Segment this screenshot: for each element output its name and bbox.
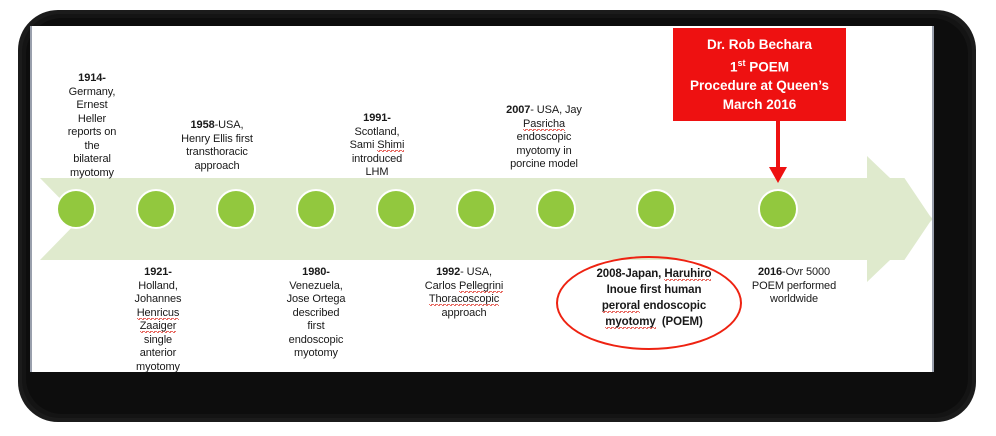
milestone-label-1914-heller: 1914- Germany,ErnestHellerreports ontheb… <box>44 72 140 180</box>
milestone-dot-1958-ellis[interactable] <box>216 189 256 229</box>
slide-screenshot: 1914- Germany,ErnestHellerreports ontheb… <box>0 0 996 436</box>
milestone-text-1921: Holland,JohannesHenricusZaaigersingleant… <box>135 280 182 373</box>
milestone-label-2007-pasricha: 2007- USA, JayPasrichaendoscopicmyotomy … <box>484 104 604 172</box>
callout-box-rob-bechara: Dr. Rob Bechara 1st POEM Procedure at Qu… <box>673 28 846 121</box>
milestone-label-1991-shimi: 1991- Scotland,Sami ShimiintroducedLHM <box>324 112 430 180</box>
callout-line-3: Procedure at Queen’s <box>690 78 829 93</box>
milestone-dot-1992-pellegrini[interactable] <box>456 189 496 229</box>
highlight-ellipse-2008-poem <box>556 256 742 350</box>
milestone-dot-1991-shimi[interactable] <box>376 189 416 229</box>
milestone-year-1921: 1921- <box>144 266 172 278</box>
milestone-text-1991: Scotland,Sami ShimiintroducedLHM <box>350 126 405 179</box>
timeline-arrow-head <box>867 156 932 282</box>
milestone-label-1921-zaaiger: 1921- Holland,JohannesHenricusZaaigersin… <box>108 266 208 372</box>
milestone-year-2007: 2007 <box>506 104 530 116</box>
spellcheck-thoracoscopic: Thoracoscopic <box>429 293 499 306</box>
milestone-dot-2016-worldwide[interactable] <box>758 189 798 229</box>
spellcheck-pasricha: Pasricha <box>523 118 565 131</box>
milestone-dot-1921-zaaiger[interactable] <box>136 189 176 229</box>
callout-line-1: Dr. Rob Bechara <box>707 37 812 52</box>
milestone-label-1992-pellegrini: 1992- USA,Carlos PellegriniThoracoscopic… <box>400 266 528 320</box>
callout-arrow-stem <box>776 121 780 173</box>
milestone-text-1914: Germany,ErnestHellerreports onthebilater… <box>68 86 117 179</box>
spellcheck-henricus: Henricus <box>137 307 180 320</box>
callout-line-4: March 2016 <box>723 97 797 112</box>
milestone-year-2016: 2016 <box>758 266 782 278</box>
milestone-label-1958-ellis: 1958-USA,Henry Ellis firsttransthoracica… <box>156 119 278 173</box>
milestone-dot-1980-ortega[interactable] <box>296 189 336 229</box>
spellcheck-pellegrini: Pellegrini <box>459 280 503 293</box>
milestone-year-1980: 1980- <box>302 266 330 278</box>
callout-text: Dr. Rob Bechara 1st POEM Procedure at Qu… <box>690 35 829 115</box>
milestone-dot-2007-pasricha[interactable] <box>536 189 576 229</box>
milestone-label-1980-ortega: 1980- Venezuela,Jose Ortegadescribedfirs… <box>264 266 368 361</box>
slide-right-edge <box>932 26 934 372</box>
milestone-dot-1914-heller[interactable] <box>56 189 96 229</box>
callout-line-2-superscript: st <box>737 58 745 68</box>
milestone-year-1992: 1992 <box>436 266 460 278</box>
spellcheck-shimi: Shimi <box>377 139 404 152</box>
milestone-year-1991: 1991- <box>363 112 391 124</box>
milestone-dot-2008-inoue[interactable] <box>636 189 676 229</box>
spellcheck-zaaiger: Zaaiger <box>140 320 177 333</box>
callout-line-2-rest: POEM <box>746 59 790 74</box>
milestone-label-2016-worldwide: 2016-Ovr 5000POEM performedworldwide <box>734 266 854 307</box>
milestone-year-1914: 1914- <box>78 72 106 84</box>
milestone-year-1958: 1958 <box>191 119 215 131</box>
milestone-text-1980: Venezuela,Jose Ortegadescribedfirstendos… <box>287 280 346 360</box>
